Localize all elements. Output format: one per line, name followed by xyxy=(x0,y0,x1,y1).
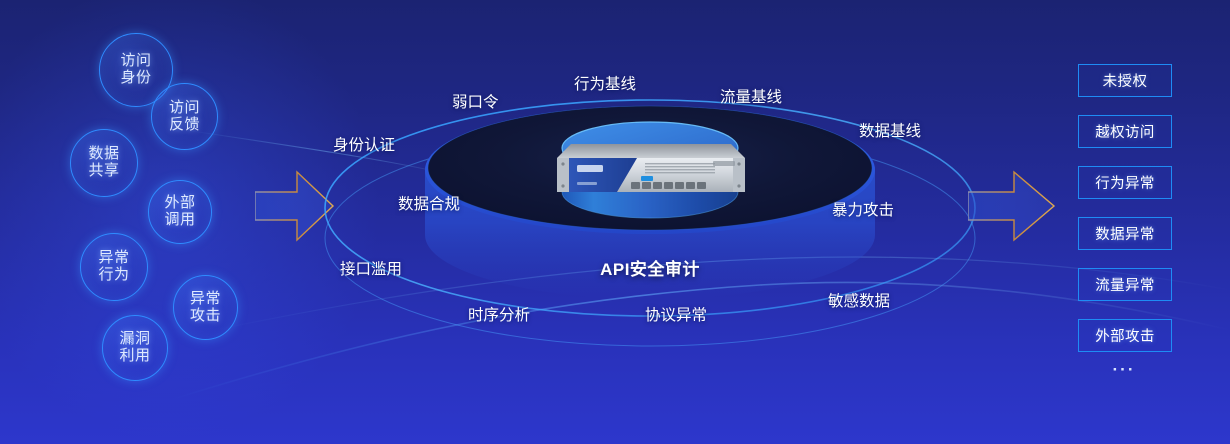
bubble-abnormal-attack[interactable]: 异常攻击 xyxy=(173,275,238,340)
bubble-access-feedback[interactable]: 访问反馈 xyxy=(151,83,218,150)
bubble-label-line2: 共享 xyxy=(88,163,119,180)
result-box-behavior-anomaly[interactable]: 行为异常 xyxy=(1078,166,1172,199)
result-box-data-anomaly[interactable]: 数据异常 xyxy=(1078,217,1172,250)
bubble-data-sharing[interactable]: 数据共享 xyxy=(70,129,138,197)
bubble-label-line2: 利用 xyxy=(119,348,150,365)
diagram-canvas: 访问身份访问反馈数据共享外部调用异常行为异常攻击漏洞利用 xyxy=(0,0,1230,444)
result-box-privilege-escalation[interactable]: 越权访问 xyxy=(1078,115,1172,148)
ring-label-data-compliance: 数据合规 xyxy=(398,192,460,214)
result-box-external-attack[interactable]: 外部攻击 xyxy=(1078,319,1172,352)
core-label: API安全审计 xyxy=(315,255,985,280)
result-box-label: 流量异常 xyxy=(1095,274,1155,295)
bubble-label-line1: 访问 xyxy=(120,53,151,70)
result-box-label: 未授权 xyxy=(1103,70,1148,91)
result-ellipsis: ··· xyxy=(1078,360,1170,380)
bubble-label-line2: 攻击 xyxy=(190,308,221,325)
bubble-exploit-vuln[interactable]: 漏洞利用 xyxy=(102,315,168,381)
result-box-label: 数据异常 xyxy=(1095,223,1155,244)
bubble-label-line1: 漏洞 xyxy=(119,331,150,348)
bubble-label-line2: 身份 xyxy=(120,70,151,87)
ring-label-traffic-baseline: 流量基线 xyxy=(720,85,782,107)
bubble-label-line1: 异常 xyxy=(190,291,221,308)
ring-label-weak-password: 弱口令 xyxy=(452,90,499,112)
result-box-traffic-anomaly[interactable]: 流量异常 xyxy=(1078,268,1172,301)
bubble-abnormal-behavior[interactable]: 异常行为 xyxy=(80,233,148,301)
bubble-label-line1: 数据 xyxy=(88,146,119,163)
bubble-label-line2: 行为 xyxy=(98,267,129,284)
ring-label-sensitive-data: 敏感数据 xyxy=(828,289,890,311)
result-box-label: 越权访问 xyxy=(1095,121,1155,142)
ring-label-identity-auth: 身份认证 xyxy=(333,133,395,155)
ring-label-data-baseline: 数据基线 xyxy=(859,119,921,141)
ring-label-api-abuse: 接口滥用 xyxy=(340,257,402,279)
result-box-unauthorized[interactable]: 未授权 xyxy=(1078,64,1172,97)
ring-label-timing-analysis: 时序分析 xyxy=(468,303,530,325)
api-security-appliance-icon xyxy=(545,142,755,200)
result-box-label: 行为异常 xyxy=(1095,172,1155,193)
result-box-label: 外部攻击 xyxy=(1095,325,1155,346)
ring-label-brute-force-attack: 暴力攻击 xyxy=(832,198,894,220)
bubble-label-line1: 访问 xyxy=(169,100,200,117)
ring-label-protocol-anomaly: 协议异常 xyxy=(645,303,707,325)
output-flow-arrow xyxy=(968,168,1056,244)
bubble-label-line2: 调用 xyxy=(164,212,195,229)
bubble-external-call[interactable]: 外部调用 xyxy=(148,180,212,244)
bubble-label-line2: 反馈 xyxy=(169,117,200,134)
ring-label-behavior-baseline: 行为基线 xyxy=(574,72,636,94)
bubble-label-line1: 异常 xyxy=(98,250,129,267)
bubble-label-line1: 外部 xyxy=(164,195,195,212)
